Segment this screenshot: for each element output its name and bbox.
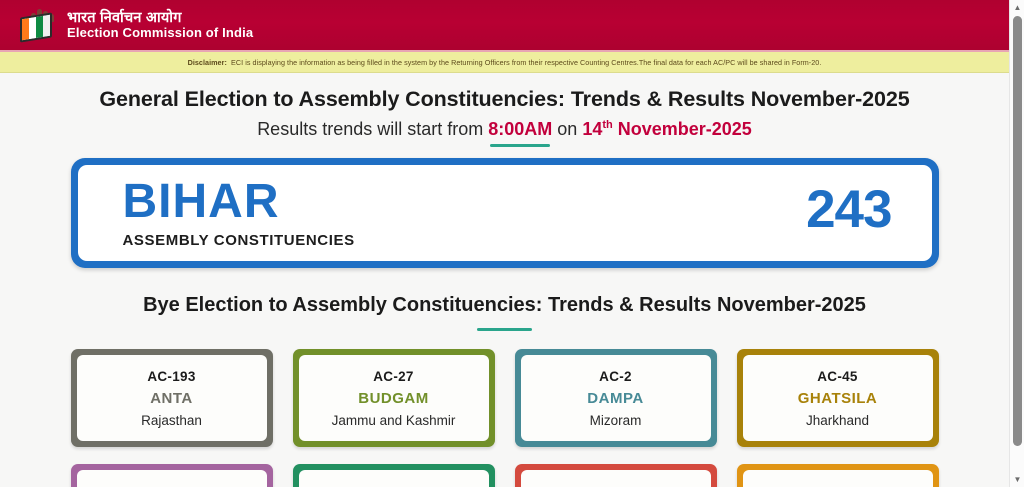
ac-constituency-name: DAMPA — [587, 390, 643, 407]
bye-election-card-inner: AC-77 — [299, 470, 489, 487]
results-start-date: 14th November-2025 — [582, 119, 752, 140]
ac-state-name: Rajasthan — [141, 413, 202, 428]
chevron-up-icon[interactable]: ▲ — [1010, 0, 1024, 15]
page-root: भारत निर्वाचन आयोग Election Commission o… — [0, 0, 1024, 487]
bye-election-card-inner: AC-45GHATSILAJharkhand — [743, 355, 933, 441]
bye-election-card[interactable]: AC-77 — [293, 464, 495, 487]
ac-number: AC-2 — [599, 369, 632, 384]
ac-constituency-name: ANTA — [150, 390, 193, 407]
bye-election-card-inner: AC-193ANTARajasthan — [77, 355, 267, 441]
ac-number: AC-27 — [373, 369, 414, 384]
ac-number: AC-193 — [147, 369, 195, 384]
ac-state-name: Jammu and Kashmir — [332, 413, 456, 428]
ac-constituency-name: BUDGAM — [358, 390, 429, 407]
state-caption: ASSEMBLY CONSTITUENCIES — [123, 232, 355, 249]
bye-election-card-grid: AC-193ANTARajasthanAC-27BUDGAMJammu and … — [71, 349, 939, 487]
state-name: BIHAR — [123, 179, 355, 225]
bye-election-divider — [477, 328, 532, 331]
eci-header: भारत निर्वाचन आयोग Election Commission o… — [0, 0, 1009, 52]
bye-election-card[interactable]: AC-45GHATSILAJharkhand — [737, 349, 939, 447]
bye-election-card-inner: AC-21 — [743, 470, 933, 487]
subtitle-middle: on — [552, 119, 582, 139]
ac-number: AC-45 — [817, 369, 858, 384]
bye-election-card-inner: AC-27BUDGAMJammu and Kashmir — [299, 355, 489, 441]
date-day: 14 — [582, 119, 602, 139]
subtitle-prefix: Results trends will start from — [257, 119, 488, 139]
disclaimer-label: Disclaimer: — [188, 58, 227, 67]
results-start-time: 8:00AM — [488, 119, 552, 140]
ac-constituency-name: GHATSILA — [798, 390, 878, 407]
date-month: November-2025 — [613, 119, 752, 139]
eci-title-english: Election Commission of India — [67, 26, 253, 41]
disclaimer-bar: Disclaimer: ECI is displaying the inform… — [0, 52, 1009, 73]
bye-election-card[interactable]: AC-193ANTARajasthan — [71, 349, 273, 447]
state-card-inner: BIHAR ASSEMBLY CONSTITUENCIES 243 — [78, 165, 932, 261]
ac-state-name: Mizoram — [590, 413, 642, 428]
scrollbar-thumb[interactable] — [1013, 16, 1022, 446]
disclaimer-body: ECI is displaying the information as bei… — [231, 58, 821, 67]
disclaimer-text: Disclaimer: ECI is displaying the inform… — [188, 58, 822, 67]
bye-election-card-inner: AC-61 — [77, 470, 267, 487]
eci-header-titles: भारत निर्वाचन आयोग Election Commission o… — [67, 10, 253, 41]
bye-election-title: Bye Election to Assembly Constituencies:… — [0, 294, 1009, 317]
bye-election-card-inner: AC-71 — [521, 470, 711, 487]
bye-election-card[interactable]: AC-21 — [737, 464, 939, 487]
eci-title-hindi: भारत निर्वाचन आयोग — [67, 10, 253, 26]
vertical-scrollbar[interactable]: ▲ ▼ — [1009, 0, 1024, 487]
bye-election-card[interactable]: AC-61 — [71, 464, 273, 487]
state-card-bihar[interactable]: BIHAR ASSEMBLY CONSTITUENCIES 243 — [71, 158, 939, 268]
eci-ballot-box-icon — [18, 6, 58, 44]
chevron-down-icon[interactable]: ▼ — [1010, 472, 1024, 487]
state-card-left: BIHAR ASSEMBLY CONSTITUENCIES — [123, 179, 355, 250]
bye-election-card[interactable]: AC-71 — [515, 464, 717, 487]
general-election-subtitle: Results trends will start from 8:00AM on… — [0, 119, 1009, 140]
general-election-title: General Election to Assembly Constituenc… — [0, 87, 1009, 112]
bye-election-card[interactable]: AC-27BUDGAMJammu and Kashmir — [293, 349, 495, 447]
main-content: General Election to Assembly Constituenc… — [0, 87, 1009, 487]
ac-state-name: Jharkhand — [806, 413, 869, 428]
bye-election-card[interactable]: AC-2DAMPAMizoram — [515, 349, 717, 447]
state-seat-count: 243 — [806, 179, 891, 240]
date-ordinal-suffix: th — [602, 119, 612, 131]
bye-election-card-inner: AC-2DAMPAMizoram — [521, 355, 711, 441]
